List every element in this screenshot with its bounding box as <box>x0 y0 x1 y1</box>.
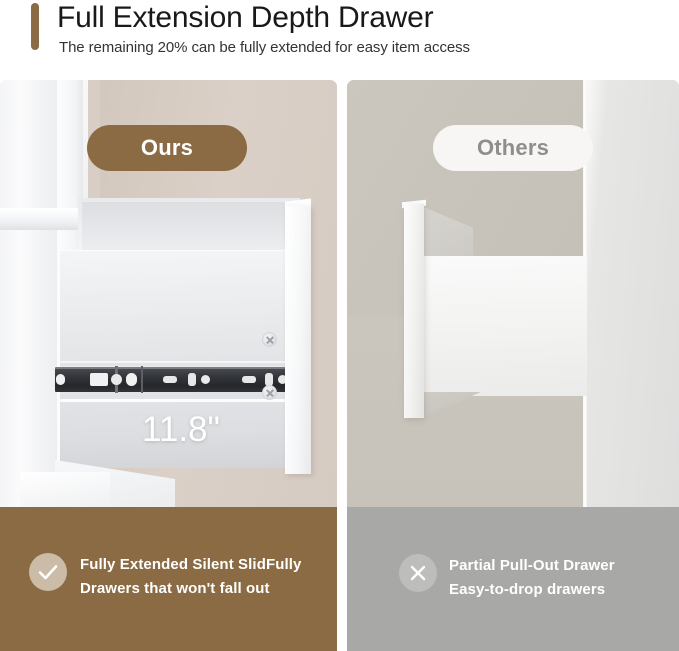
rail-end-cap <box>56 374 65 385</box>
rail-highlight <box>55 366 290 369</box>
header: Full Extension Depth Drawer The remainin… <box>0 0 679 78</box>
rail-bearing-dot <box>201 375 210 384</box>
drawer-depth-label: 11.8" <box>142 410 220 450</box>
caption-bar-others: Partial Pull-Out Drawer Easy-to-drop dra… <box>347 507 679 651</box>
panel-divider <box>337 80 347 651</box>
infographic-root: Full Extension Depth Drawer The remainin… <box>0 0 679 651</box>
caption-text-ours: Fully Extended Silent SlidFully Drawers … <box>80 553 301 601</box>
measure-line-bottom <box>60 399 290 402</box>
rail-bearing-dot <box>111 374 122 385</box>
page-subtitle: The remaining 20% can be fully extended … <box>59 38 470 58</box>
drawer-front-panel <box>285 206 311 474</box>
cabinet-shelf-edge <box>0 208 88 230</box>
cross-icon <box>399 554 437 592</box>
badge-others: Others <box>433 125 593 171</box>
rail-slot <box>188 373 196 386</box>
cabinet-side-panel <box>0 80 58 507</box>
check-icon <box>29 553 67 591</box>
rail-stop-tab <box>126 373 137 386</box>
caption-bar-ours: Fully Extended Silent SlidFully Drawers … <box>0 507 337 651</box>
accent-bar <box>31 3 39 50</box>
badge-others-label: Others <box>477 135 549 161</box>
screw-icon <box>262 332 277 347</box>
product-photo-ours: 11.8" Ours <box>0 80 337 507</box>
rail-slot <box>163 376 177 383</box>
caption-text-others: Partial Pull-Out Drawer Easy-to-drop dra… <box>449 554 615 602</box>
comparison-panel-ours: 11.8" Ours Fully Extended Silent SlidFul… <box>0 80 337 651</box>
measure-line-top <box>60 361 290 363</box>
page-title: Full Extension Depth Drawer <box>57 0 433 35</box>
drawer-interior <box>82 202 294 252</box>
cabinet-base-front <box>20 472 110 507</box>
badge-ours-label: Ours <box>141 135 193 161</box>
rail-seam-secondary <box>141 366 143 393</box>
cabinet-panel <box>585 80 679 507</box>
comparison-panel-others: Others Partial Pull-Out Drawer Easy-to-d… <box>347 80 679 651</box>
rail-carriage-tab <box>90 373 108 386</box>
badge-ours: Ours <box>87 125 247 171</box>
rail-slot <box>242 376 256 383</box>
caption-others-line1: Partial Pull-Out Drawer <box>449 554 615 578</box>
caption-others-line2: Easy-to-drop drawers <box>449 578 615 602</box>
drawer-front-panel <box>404 204 424 418</box>
screw-icon <box>262 385 277 400</box>
caption-ours-line1: Fully Extended Silent SlidFully <box>80 553 301 577</box>
caption-ours-line2: Drawers that won't fall out <box>80 577 301 601</box>
drawer-side-panel <box>421 256 587 396</box>
product-photo-others: Others <box>347 80 679 507</box>
